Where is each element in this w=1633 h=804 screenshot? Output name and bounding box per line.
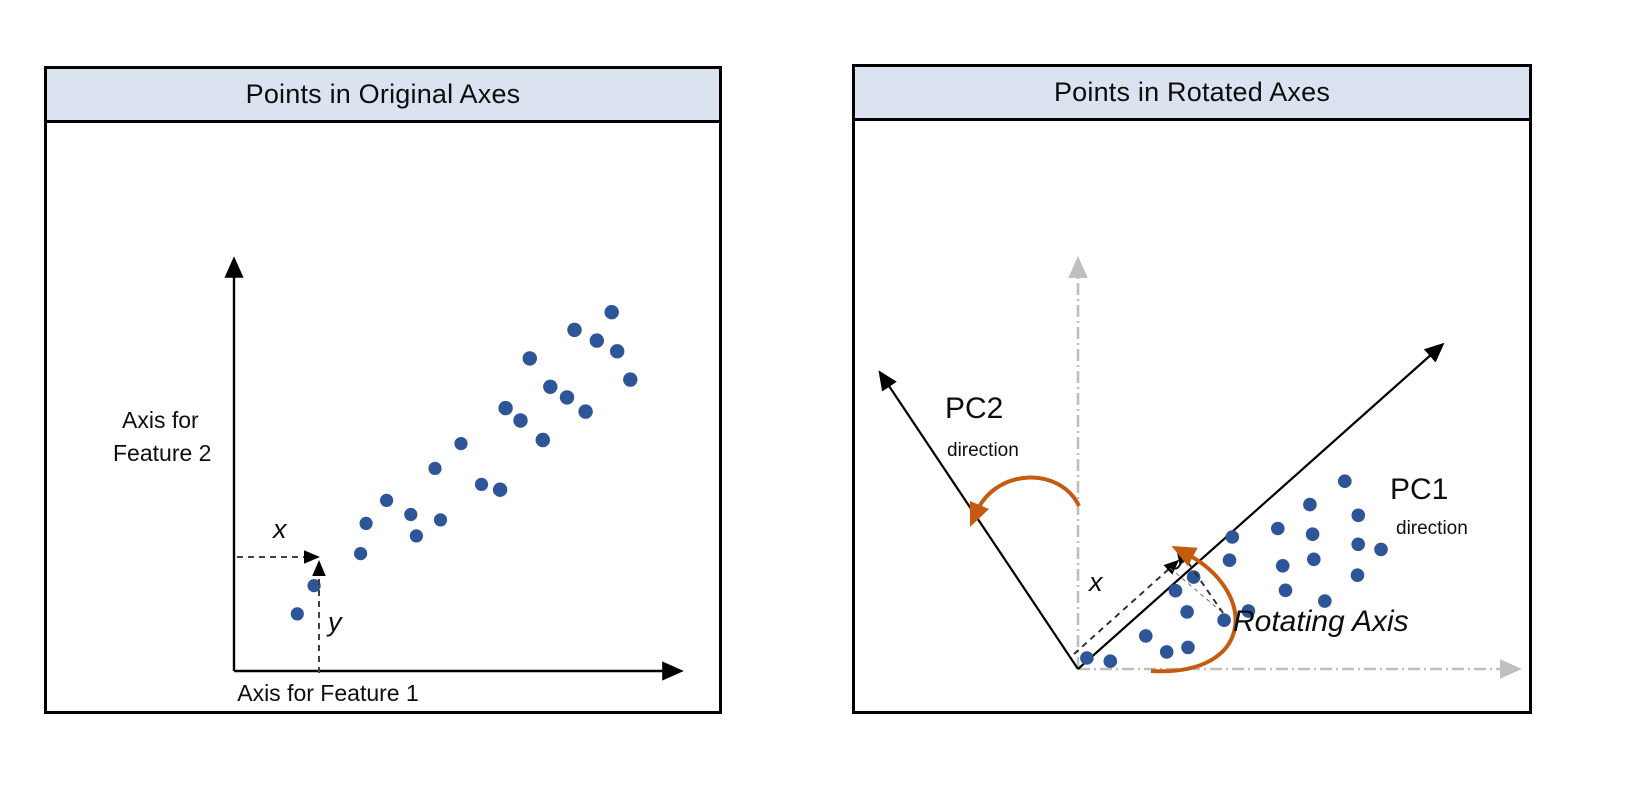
data-point — [1187, 570, 1201, 584]
x-component-label: x — [271, 514, 288, 544]
data-point — [1104, 654, 1118, 668]
data-point — [578, 404, 592, 418]
panel-body-original: x y Axis for Feature 2 Axis for Feature … — [47, 123, 719, 711]
data-point — [513, 413, 527, 427]
data-point — [1279, 584, 1293, 598]
data-point — [1217, 613, 1231, 627]
data-point — [475, 478, 488, 491]
data-point — [410, 529, 423, 542]
pc1-label: PC1 — [1390, 473, 1448, 506]
scatter-points-original — [291, 305, 638, 621]
data-point — [1223, 553, 1237, 567]
data-point — [1351, 568, 1365, 582]
rotated-axes-plot: x y PC2 direction PC1 direction Rotating… — [855, 121, 1529, 711]
data-point — [523, 351, 537, 365]
y-axis-label-line2: Feature 2 — [113, 440, 211, 466]
data-point — [380, 494, 393, 507]
data-point — [590, 333, 604, 347]
data-point — [1271, 522, 1285, 536]
pc2-axis-line — [887, 383, 1078, 669]
pc2-label: PC2 — [945, 392, 1003, 425]
rotating-axis-label: Rotating Axis — [1233, 605, 1409, 638]
data-point — [1276, 559, 1290, 573]
data-point — [1169, 584, 1183, 598]
x-component-label: x — [1087, 567, 1104, 597]
data-point — [1139, 629, 1153, 643]
data-point — [1374, 543, 1388, 557]
data-point — [1226, 530, 1240, 544]
data-point — [1338, 474, 1352, 488]
data-point — [1160, 645, 1174, 659]
data-point — [1303, 498, 1317, 512]
data-point — [1306, 527, 1320, 541]
data-point — [610, 344, 624, 358]
data-point — [605, 305, 619, 319]
data-point — [360, 517, 373, 530]
pc2-direction-label: direction — [947, 440, 1019, 461]
y-axis-label-line1: Axis for — [122, 407, 199, 433]
panel-body-rotated: x y PC2 direction PC1 direction Rotating… — [855, 121, 1529, 711]
pc1-direction-label: direction — [1396, 518, 1468, 539]
panel-title-original: Points in Original Axes — [47, 69, 719, 123]
data-point — [428, 462, 441, 475]
data-point — [493, 483, 507, 497]
data-point — [1351, 538, 1365, 552]
data-point — [567, 323, 581, 337]
data-point — [1307, 553, 1321, 567]
panel-original-axes: Points in Original Axes — [44, 66, 722, 714]
data-point — [1080, 651, 1094, 665]
rotation-arc-pc2 — [976, 478, 1079, 513]
data-point — [1180, 605, 1194, 619]
data-point — [1352, 509, 1366, 523]
data-point — [434, 513, 447, 526]
original-axes-plot: x y Axis for Feature 2 Axis for Feature … — [47, 123, 719, 711]
data-point — [1181, 641, 1195, 655]
x-axis-label: Axis for Feature 1 — [237, 680, 419, 706]
panel-rotated-axes: Points in Rotated Axes — [852, 64, 1532, 714]
data-point — [498, 401, 512, 415]
data-point — [536, 433, 550, 447]
diagram-canvas: Points in Original Axes — [0, 0, 1633, 804]
data-point — [291, 607, 304, 620]
panel-title-rotated: Points in Rotated Axes — [855, 67, 1529, 121]
data-point — [454, 437, 467, 450]
data-point — [404, 508, 417, 521]
scatter-points-rotated — [1080, 474, 1388, 668]
data-point — [560, 390, 574, 404]
data-point — [623, 372, 637, 386]
y-component-label: y — [326, 607, 343, 637]
data-point — [354, 547, 367, 560]
data-point — [543, 380, 557, 394]
